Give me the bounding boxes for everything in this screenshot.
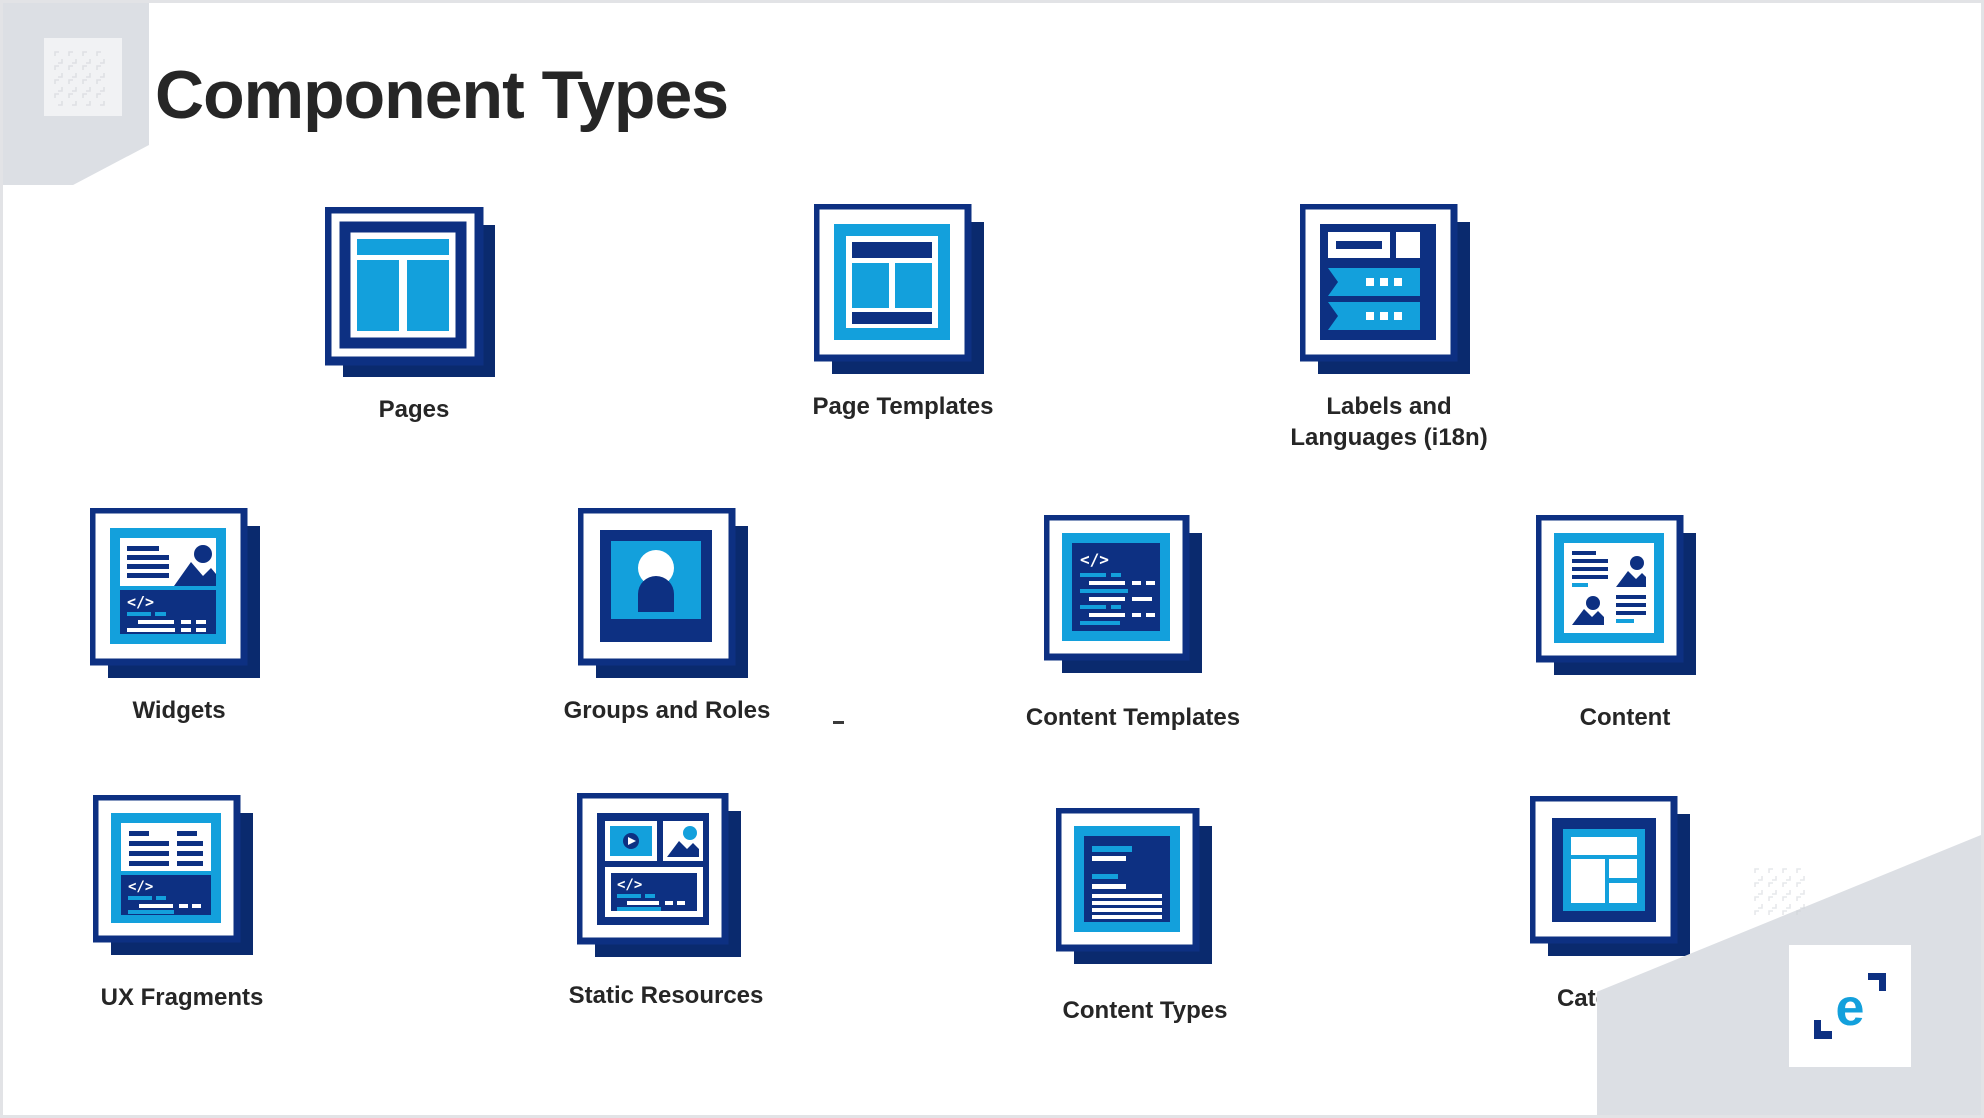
dot-pattern-bottom-right-icon [1753,867,1819,929]
content-types-icon [1056,808,1234,986]
content-templates-icon: </> [1044,515,1222,693]
slide-canvas: Component Types Pages [0,0,1984,1118]
component-label: Widgets [54,696,304,727]
component-label: Page Templates [778,392,1028,423]
component-label: Content Types [1020,996,1270,1027]
component-label: Content Templates [1008,703,1258,734]
component-label: Labels and Languages (i18n) [1264,392,1514,453]
logo-card: e [1789,945,1911,1067]
static-resources-icon: </> [577,793,755,971]
component-item-groups-roles[interactable]: Groups and Roles [578,508,756,727]
groups-roles-icon [578,508,756,686]
ux-fragments-icon: </> [93,795,271,973]
svg-text:</>: </> [127,593,154,611]
svg-text:</>: </> [128,879,153,895]
entando-logo-icon: e [1808,969,1892,1043]
svg-text:e: e [1836,979,1865,1037]
component-item-page-templates[interactable]: Page Templates [814,204,992,423]
component-item-content-types[interactable]: Content Types [1056,808,1234,1027]
component-item-pages[interactable]: Pages [325,207,503,426]
dot-pattern-top-left-icon [53,50,115,110]
component-label: Static Resources [541,981,791,1012]
categories-icon [1530,796,1708,974]
component-item-labels-languages[interactable]: Labels and Languages (i18n) [1300,204,1478,453]
stray-mark [833,721,844,724]
component-item-content-templates[interactable]: </> Content Templates [1044,515,1222,734]
page-title: Component Types [155,61,728,129]
pages-icon [325,207,503,385]
svg-text:</>: </> [617,877,642,893]
page-templates-icon [814,204,992,382]
component-label: UX Fragments [57,983,307,1014]
component-item-ux-fragments[interactable]: </> UX Fragments [93,795,271,1014]
component-item-static-resources[interactable]: </> Static Resources [577,793,755,1012]
component-label: Pages [289,395,539,426]
labels-languages-icon [1300,204,1478,382]
svg-text:</>: </> [1080,550,1109,569]
content-icon [1536,515,1714,693]
component-label: Groups and Roles [542,696,792,727]
component-item-widgets[interactable]: </> Widgets [90,508,268,727]
component-label: Content [1500,703,1750,734]
component-item-content[interactable]: Content [1536,515,1714,734]
widgets-icon: </> [90,508,268,686]
